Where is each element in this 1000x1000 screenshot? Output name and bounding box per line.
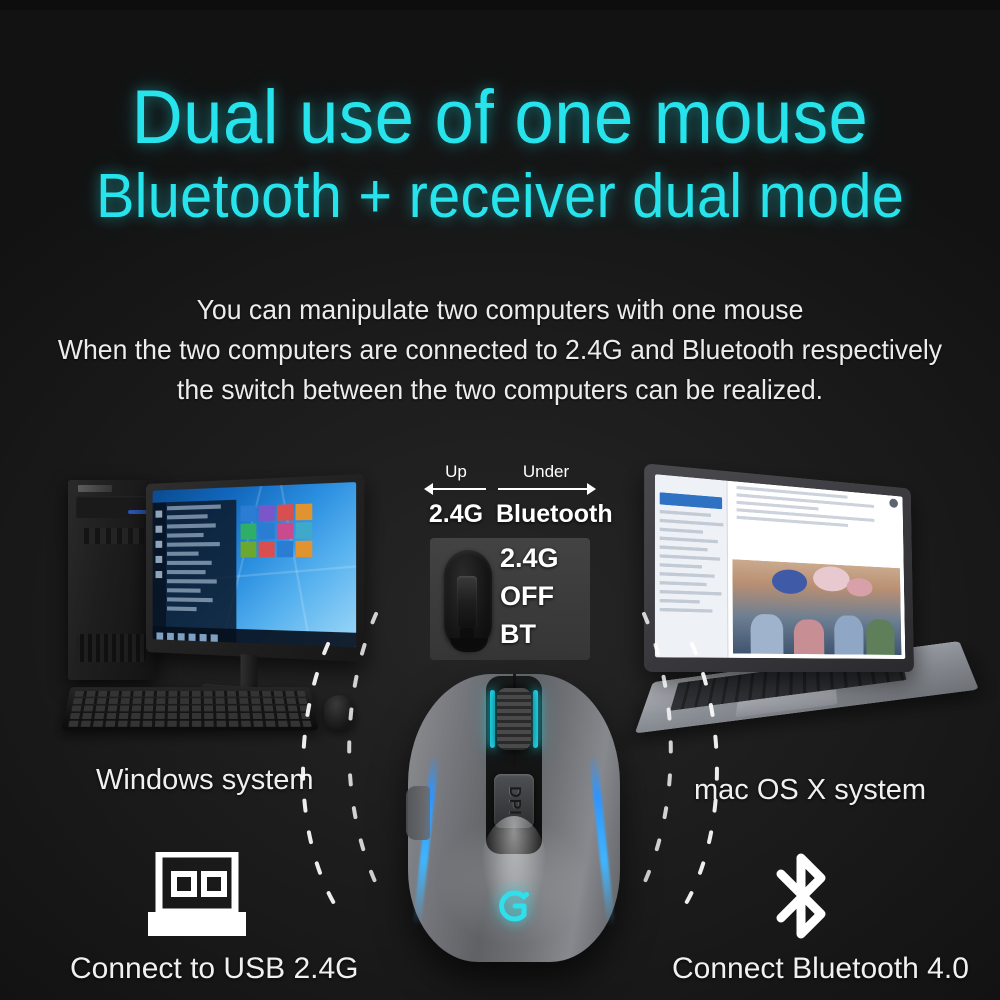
windows-start-tiles (241, 503, 325, 557)
mouse-dpi-label: DPI (505, 786, 523, 816)
switch-mode-bluetooth: Bluetooth (496, 499, 596, 529)
wireless-mouse: DPI (408, 666, 620, 962)
pc-keyboard (61, 687, 318, 730)
laptop-icon (648, 486, 966, 758)
monitor-stand-neck (241, 654, 258, 689)
headline-primary: Dual use of one mouse (35, 78, 965, 158)
switch-state-list: 2.4G OFF BT (500, 544, 586, 648)
mail-content (728, 481, 905, 659)
mouse-scroll-wheel[interactable] (497, 688, 531, 750)
description-block: You can manipulate two computers with on… (0, 290, 1000, 410)
bluetooth-icon (757, 848, 845, 944)
windows-start-menu (153, 500, 237, 643)
description-line-1: You can manipulate two computers with on… (25, 290, 975, 330)
pc-tower-grill (76, 634, 146, 662)
mouse-wheel-glow-left (490, 690, 495, 748)
switch-state-24g: 2.4G (500, 544, 586, 572)
mail-avatar (889, 498, 898, 508)
pc-tower-brand (78, 485, 112, 492)
description-line-2: When the two computers are connected to … (25, 330, 975, 370)
laptop-lid (644, 463, 914, 672)
laptop-screen-mail-app (655, 474, 905, 659)
slider-switch-toggle[interactable] (457, 576, 477, 628)
g-logo-icon (492, 884, 536, 928)
pc-mouse (323, 695, 354, 730)
windows-taskbar (153, 626, 356, 647)
headline-block: Dual use of one mouse Bluetooth + receiv… (0, 78, 1000, 232)
description-line-3: the switch between the two computers can… (25, 370, 975, 410)
windows-system-label: Windows system (96, 764, 314, 797)
monitor-screen-windows-desktop (153, 482, 356, 647)
usb-receiver-icon (148, 852, 246, 936)
mac-system-label: mac OS X system (694, 774, 926, 807)
switch-mode-24g: 2.4G (424, 499, 488, 529)
slider-switch-body[interactable] (444, 550, 492, 650)
left-arrow-icon (424, 482, 488, 496)
headline-secondary: Bluetooth + receiver dual mode (35, 162, 965, 232)
mouse-wheel-glow-right (533, 690, 538, 748)
bluetooth-connection-label: Connect Bluetooth 4.0 (672, 952, 969, 986)
switch-under-label: Under (496, 462, 596, 481)
pc-monitor (146, 474, 364, 662)
switch-callout: Up 2.4G Under Bluetooth (424, 462, 596, 529)
mail-sidebar (655, 474, 729, 658)
switch-up-label: Up (424, 462, 488, 481)
desktop-computer-icon (58, 470, 358, 750)
monitor-bezel (146, 474, 364, 662)
right-arrow-icon (496, 482, 596, 496)
pc-tower-drive-bay (76, 496, 146, 518)
mail-photo (733, 559, 902, 655)
product-infographic: Dual use of one mouse Bluetooth + receiv… (0, 0, 1000, 1000)
pc-tower (68, 480, 156, 680)
slider-switch-base (450, 638, 488, 652)
usb-connection-label: Connect to USB 2.4G (70, 952, 359, 986)
switch-state-bt: BT (500, 620, 586, 648)
switch-state-off: OFF (500, 582, 586, 610)
switch-detail-panel: 2.4G OFF BT (430, 538, 590, 660)
mouse-side-button[interactable] (406, 786, 430, 840)
pc-tower-ports (78, 528, 144, 544)
